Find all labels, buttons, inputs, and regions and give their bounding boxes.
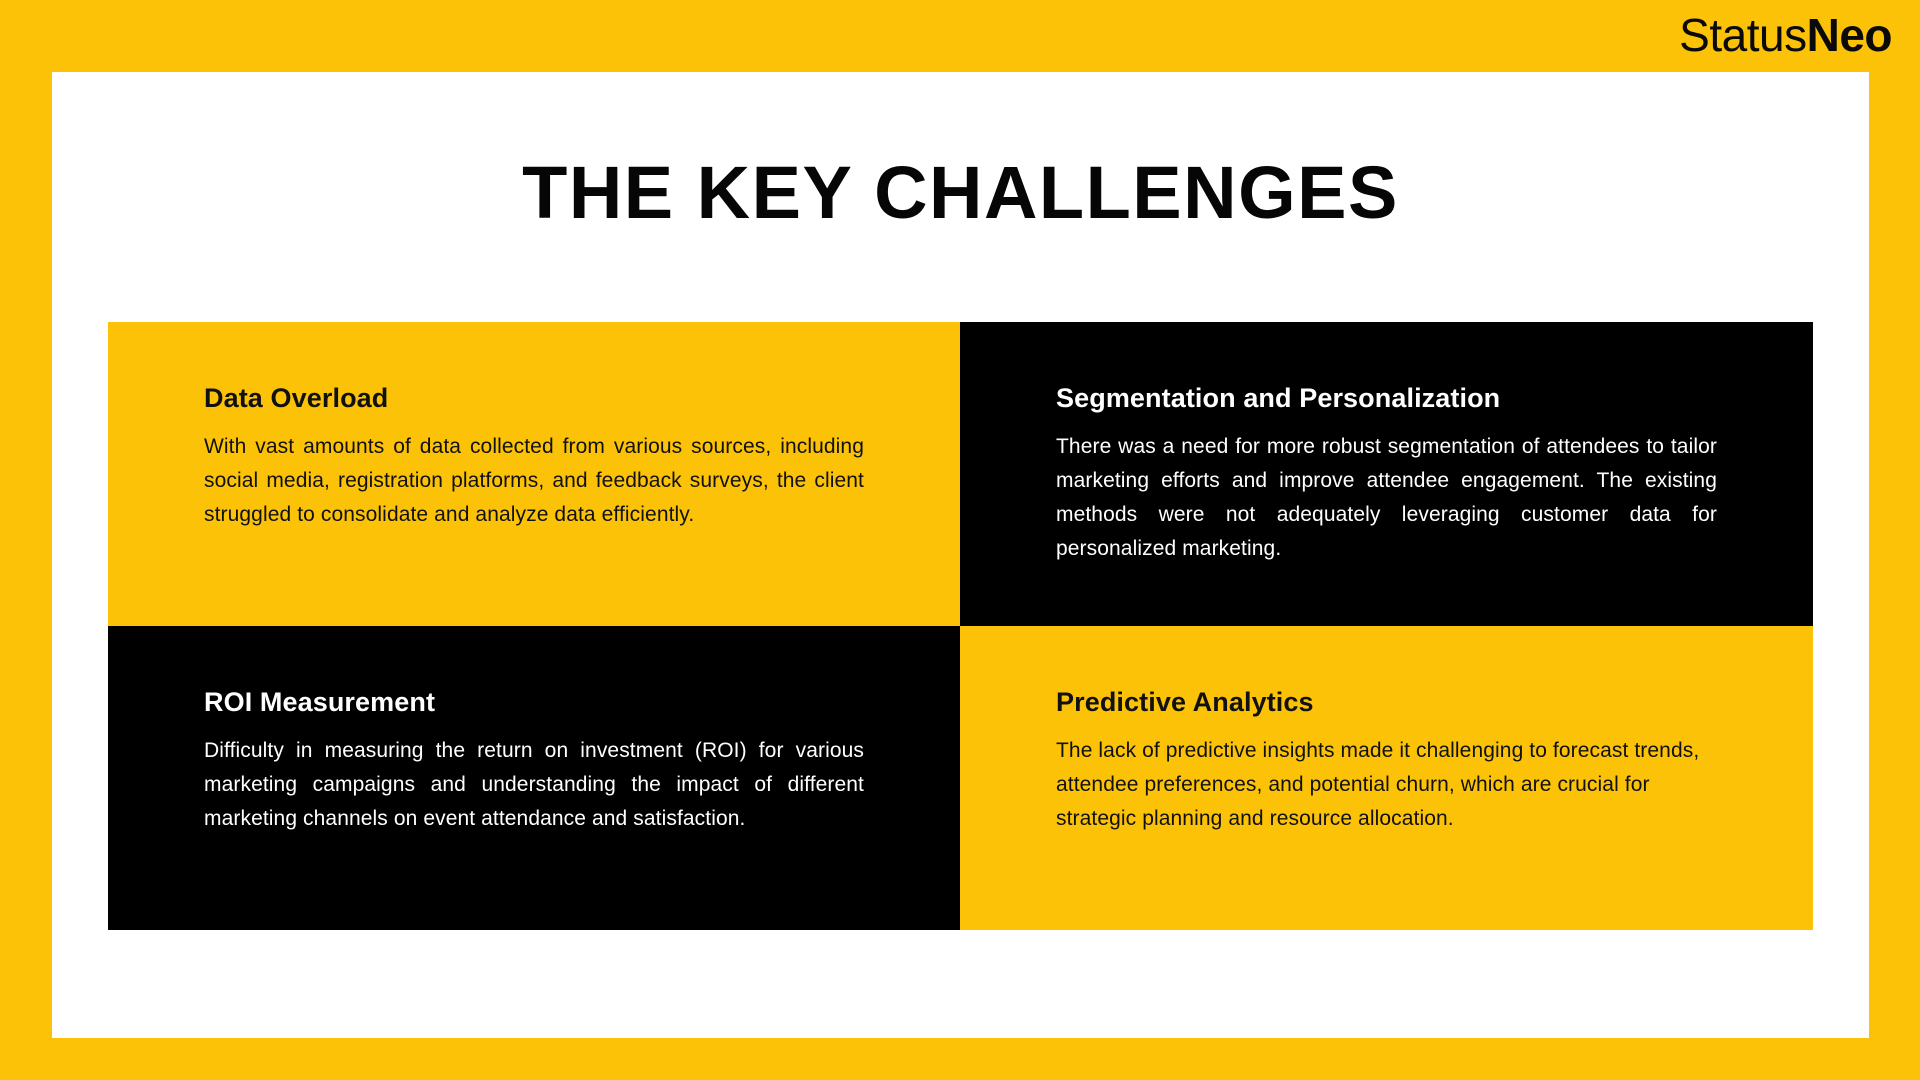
- challenge-card-roi-measurement: ROI Measurement Difficulty in measuring …: [108, 626, 960, 930]
- challenge-card-title: Segmentation and Personalization: [1056, 382, 1717, 414]
- challenge-card-predictive-analytics: Predictive Analytics The lack of predict…: [960, 626, 1813, 930]
- challenge-card-segmentation-and-personalization: Segmentation and Personalization There w…: [960, 322, 1813, 626]
- challenge-card-title: ROI Measurement: [204, 686, 864, 718]
- challenge-card-data-overload: Data Overload With vast amounts of data …: [108, 322, 960, 626]
- challenge-card-body: With vast amounts of data collected from…: [204, 430, 864, 532]
- challenge-card-body: The lack of predictive insights made it …: [1056, 734, 1717, 836]
- challenge-card-body: There was a need for more robust segment…: [1056, 430, 1717, 566]
- page-title: THE KEY CHALLENGES: [52, 156, 1869, 230]
- content-panel: THE KEY CHALLENGES Data Overload With va…: [52, 72, 1869, 1038]
- brand-name-neo: Neo: [1807, 9, 1892, 61]
- challenge-card-body: Difficulty in measuring the return on in…: [204, 734, 864, 836]
- brand-logo: StatusNeo: [1679, 12, 1892, 58]
- challenge-card-title: Predictive Analytics: [1056, 686, 1717, 718]
- challenges-grid: Data Overload With vast amounts of data …: [108, 322, 1813, 930]
- brand-name-status: Status: [1679, 9, 1806, 61]
- challenge-card-title: Data Overload: [204, 382, 864, 414]
